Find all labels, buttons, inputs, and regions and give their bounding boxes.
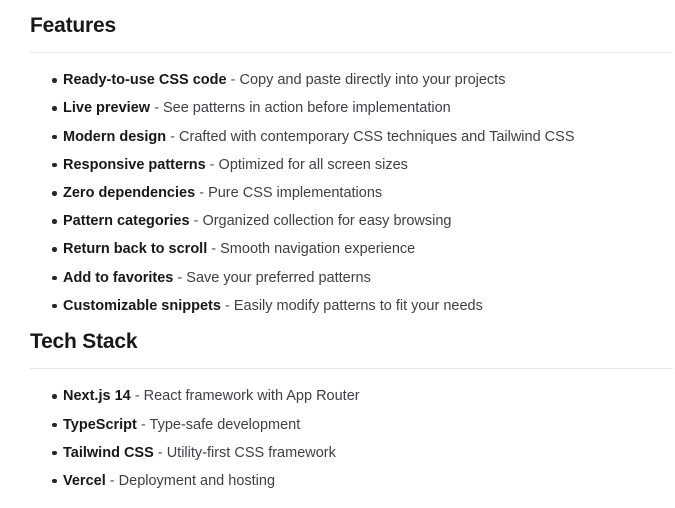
bullet-icon: [52, 219, 57, 224]
list-item: Pattern categories - Organized collectio…: [30, 207, 673, 235]
list-item-term: Customizable snippets: [63, 298, 221, 314]
bullet-icon: [52, 106, 57, 111]
list-item-description: Save your preferred patterns: [186, 270, 371, 286]
bullet-icon: [52, 423, 57, 428]
list-item-separator: -: [211, 241, 216, 257]
bullet-icon: [52, 479, 57, 484]
list-item-separator: -: [154, 100, 159, 116]
list-item-term: Return back to scroll: [63, 241, 207, 257]
list-item-description: Optimized for all screen sizes: [219, 157, 408, 173]
list-item: Live preview - See patterns in action be…: [30, 94, 673, 122]
list-item-separator: -: [199, 185, 204, 201]
bullet-icon: [52, 276, 57, 281]
section-tech-stack: Tech StackNext.js 14 - React framework w…: [30, 320, 673, 495]
list-item-separator: -: [141, 417, 146, 433]
list-item-term: Modern design: [63, 129, 166, 145]
list-item: Customizable snippets - Easily modify pa…: [30, 292, 673, 320]
list-item-term: Ready-to-use CSS code: [63, 72, 227, 88]
list-item-term: TypeScript: [63, 417, 137, 433]
list-item-separator: -: [135, 388, 140, 404]
section-heading-features: Features: [30, 0, 673, 39]
list-item-term: Responsive patterns: [63, 157, 206, 173]
list-item-term: Pattern categories: [63, 213, 190, 229]
list-item-separator: -: [177, 270, 182, 286]
bullet-icon: [52, 135, 57, 140]
bullet-icon: [52, 394, 57, 399]
list-item: Tailwind CSS - Utility-first CSS framewo…: [30, 439, 673, 467]
list-item-separator: -: [231, 72, 236, 88]
list-item-separator: -: [110, 473, 115, 489]
list-item-description: Pure CSS implementations: [208, 185, 382, 201]
list-item: Modern design - Crafted with contemporar…: [30, 123, 673, 151]
list-tech-stack: Next.js 14 - React framework with App Ro…: [30, 369, 673, 495]
list-item: Next.js 14 - React framework with App Ro…: [30, 382, 673, 410]
sections-container: FeaturesReady-to-use CSS code - Copy and…: [30, 0, 673, 495]
list-item-term: Add to favorites: [63, 270, 173, 286]
list-item: Ready-to-use CSS code - Copy and paste d…: [30, 66, 673, 94]
list-item-term: Tailwind CSS: [63, 445, 154, 461]
list-item-description: See patterns in action before implementa…: [163, 100, 451, 116]
list-item-separator: -: [170, 129, 175, 145]
bullet-icon: [52, 304, 57, 309]
list-item-description: Copy and paste directly into your projec…: [239, 72, 505, 88]
bullet-icon: [52, 247, 57, 252]
section-heading-tech-stack: Tech Stack: [30, 320, 673, 355]
bullet-icon: [52, 78, 57, 83]
documentation-page: FeaturesReady-to-use CSS code - Copy and…: [0, 0, 675, 495]
list-item-description: Organized collection for easy browsing: [202, 213, 451, 229]
list-item-separator: -: [225, 298, 230, 314]
section-features: FeaturesReady-to-use CSS code - Copy and…: [30, 0, 673, 320]
bullet-icon: [52, 451, 57, 456]
list-item: Responsive patterns - Optimized for all …: [30, 151, 673, 179]
list-item-term: Vercel: [63, 473, 106, 489]
list-item: Return back to scroll - Smooth navigatio…: [30, 235, 673, 263]
list-item-separator: -: [210, 157, 215, 173]
list-item: TypeScript - Type-safe development: [30, 411, 673, 439]
list-item-description: React framework with App Router: [144, 388, 360, 404]
list-item-term: Next.js 14: [63, 388, 131, 404]
list-item-description: Utility-first CSS framework: [167, 445, 336, 461]
list-item-separator: -: [194, 213, 199, 229]
list-item-separator: -: [158, 445, 163, 461]
bullet-icon: [52, 191, 57, 196]
list-item: Zero dependencies - Pure CSS implementat…: [30, 179, 673, 207]
list-item-description: Type-safe development: [150, 417, 301, 433]
list-item-term: Live preview: [63, 100, 150, 116]
list-item: Vercel - Deployment and hosting: [30, 467, 673, 495]
list-item: Add to favorites - Save your preferred p…: [30, 264, 673, 292]
list-item-description: Easily modify patterns to fit your needs: [234, 298, 483, 314]
bullet-icon: [52, 163, 57, 168]
list-features: Ready-to-use CSS code - Copy and paste d…: [30, 53, 673, 320]
list-item-description: Crafted with contemporary CSS techniques…: [179, 129, 574, 145]
list-item-description: Deployment and hosting: [119, 473, 275, 489]
list-item-description: Smooth navigation experience: [220, 241, 415, 257]
list-item-term: Zero dependencies: [63, 185, 195, 201]
